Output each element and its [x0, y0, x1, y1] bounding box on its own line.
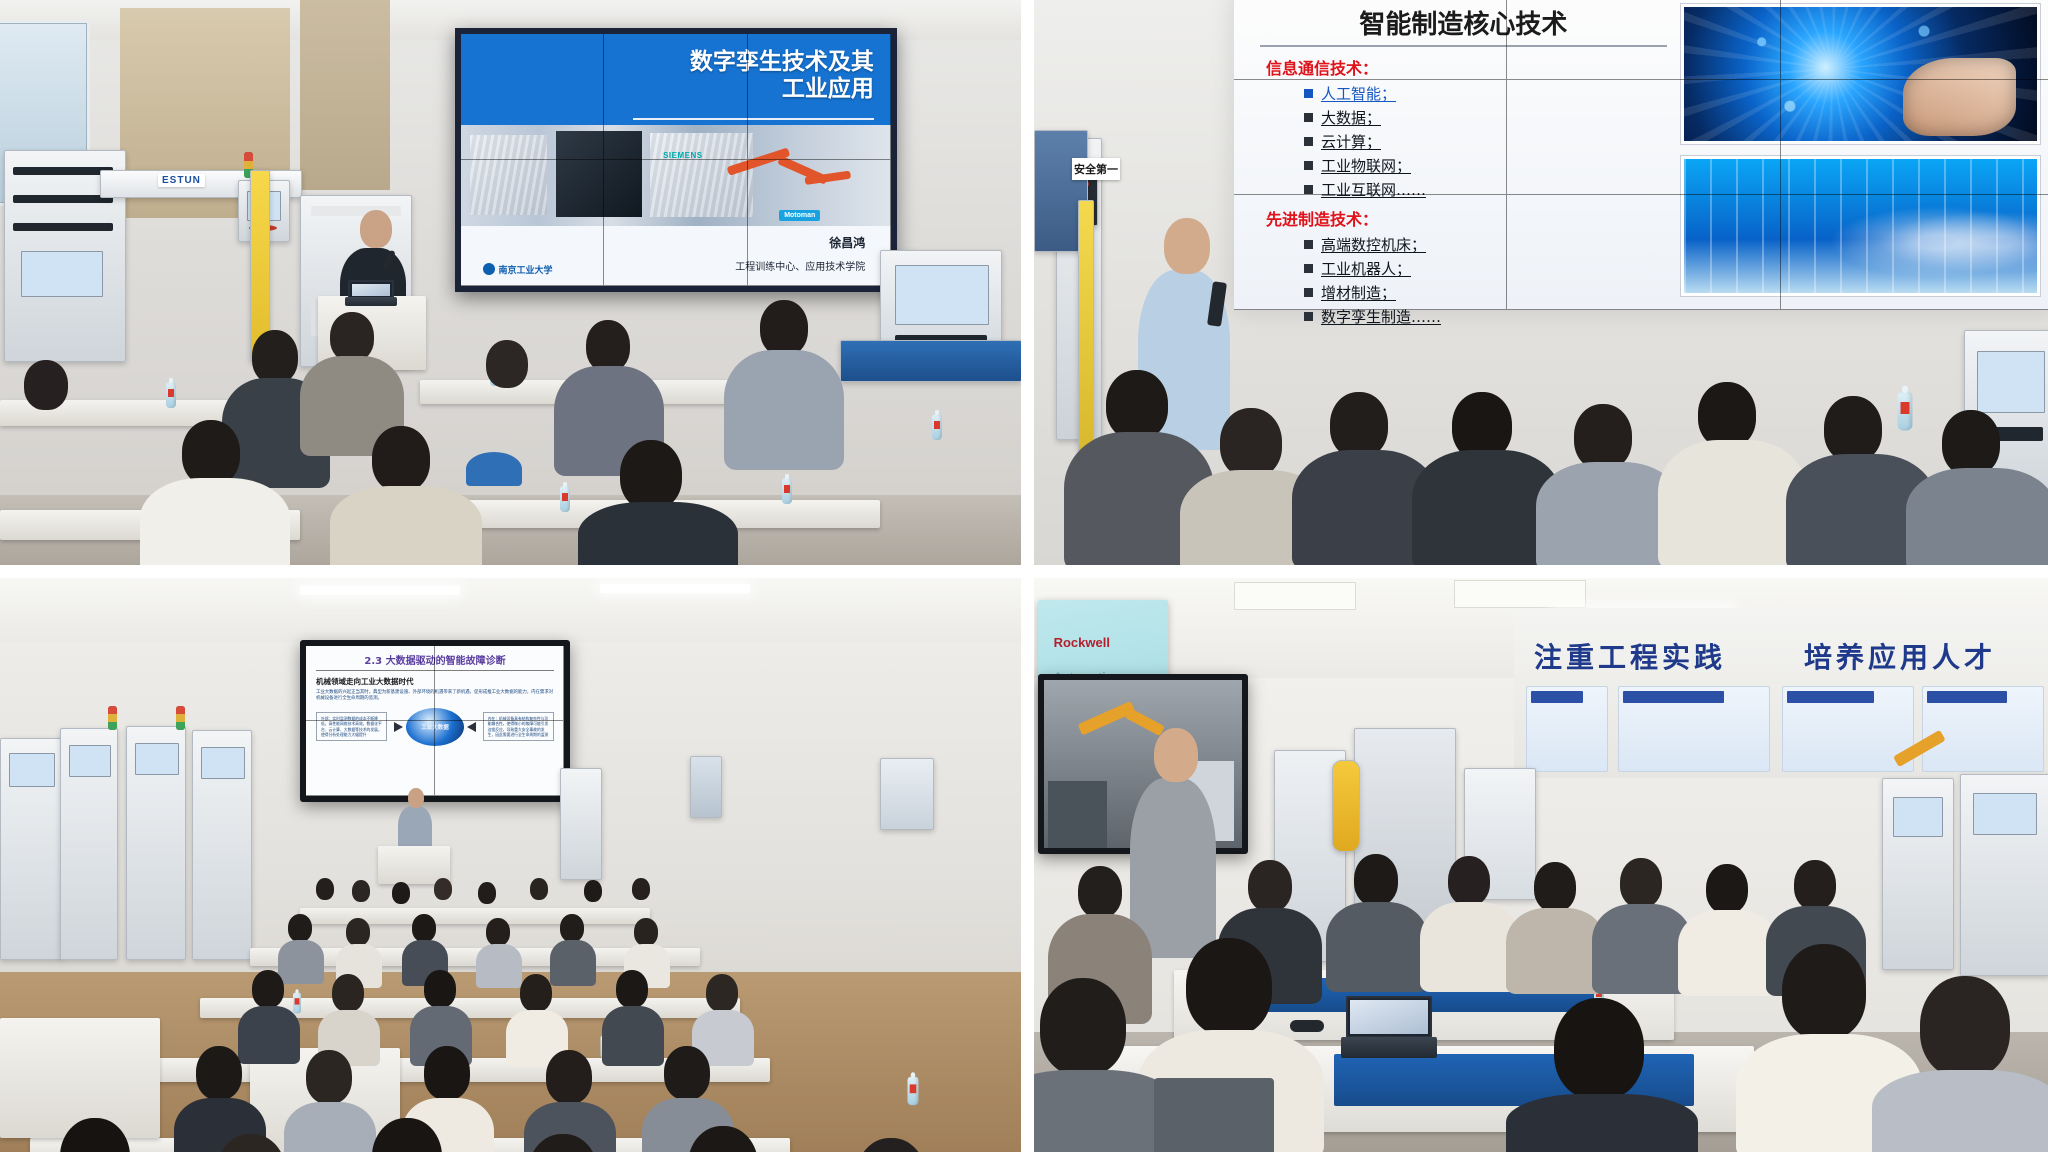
lab-machine — [126, 726, 186, 960]
lab-machine — [60, 728, 118, 960]
microphone — [1290, 1020, 1324, 1032]
presenter-head — [408, 788, 424, 808]
audience-head — [584, 880, 602, 902]
wall-equipment — [560, 768, 602, 880]
rockwell-brand-line1: Rockwell — [1054, 635, 1110, 650]
audience-head — [392, 882, 410, 904]
window-blinds — [300, 0, 390, 190]
attendee-head — [1448, 856, 1490, 906]
audience-body — [724, 350, 844, 470]
wall-banner-left: 注重工程实践 — [1534, 636, 1726, 676]
audience-body — [330, 486, 482, 565]
ceiling-panel — [1454, 580, 1586, 608]
audience-head — [486, 340, 528, 388]
wall-screen: 2.3 大数据驱动的智能故障诊断 机械领域走向工业大数据时代 工业大数据的兴起正… — [300, 640, 570, 802]
water-bottle — [932, 414, 942, 440]
audience-head — [306, 1050, 352, 1104]
attendee-head — [1534, 862, 1576, 912]
audience-head — [1698, 382, 1756, 448]
bullet-square-icon — [1304, 312, 1313, 321]
attendee-head — [1782, 944, 1866, 1040]
status-lamp-tower — [108, 706, 117, 730]
wall-poster — [880, 758, 934, 830]
audience-head — [760, 300, 808, 356]
attendee-head — [1620, 858, 1662, 908]
audience-head — [182, 420, 240, 486]
blue-cabinet — [840, 340, 1021, 382]
attendee-head — [1040, 978, 1126, 1076]
presenter-head — [1164, 218, 1210, 274]
audience-body — [602, 1006, 664, 1066]
audience-head — [586, 320, 630, 372]
audience-head — [434, 878, 452, 900]
wall-banner-right: 培养应用人才 — [1804, 636, 1996, 676]
robot-cell — [1882, 778, 1954, 970]
audience-head — [424, 970, 456, 1008]
audience-body — [278, 940, 324, 984]
chair — [1154, 1078, 1274, 1152]
attendee-body — [1420, 902, 1520, 992]
audience-head — [330, 312, 374, 362]
attendee-body — [1872, 1070, 2048, 1152]
photo-top-left: ESTUN SIEMENS Mo — [0, 0, 1021, 565]
video-wall: SIEMENS Motoman 数字孪生技术及其 工业应用 徐昌鸿 工程训练中心… — [455, 28, 897, 292]
water-bottle — [166, 382, 176, 408]
wall-poster — [1526, 686, 1608, 772]
attendee-head — [1920, 976, 2010, 1078]
safety-post — [1078, 200, 1094, 452]
water-bottle — [782, 478, 792, 504]
attendee-head — [1078, 866, 1122, 918]
laptop — [1346, 996, 1432, 1058]
audience-head — [616, 970, 648, 1008]
photo-collage: ESTUN SIEMENS Mo — [0, 0, 2048, 1152]
estun-brand-label: ESTUN — [158, 174, 205, 187]
audience-head — [1330, 392, 1388, 458]
audience-head — [372, 426, 430, 492]
audience-body — [284, 1102, 376, 1152]
audience-head — [1942, 410, 2000, 476]
audience-head — [1824, 396, 1882, 462]
ceiling-light — [300, 586, 460, 595]
attendee-head — [1706, 864, 1748, 914]
presenter-laptop — [348, 280, 394, 306]
audience-head — [24, 360, 68, 410]
audience-head — [424, 1046, 470, 1100]
ceiling — [0, 578, 1021, 642]
audience-head — [1220, 408, 1282, 478]
speaker-head — [1154, 728, 1198, 782]
lab-machine — [0, 738, 62, 960]
robot-cell — [1960, 774, 2048, 976]
yellow-fixture — [1332, 760, 1360, 852]
wall-poster — [1618, 686, 1770, 772]
stool — [466, 452, 522, 486]
audience-head — [316, 878, 334, 900]
ceiling-light — [600, 584, 750, 593]
audience-head — [664, 1046, 710, 1100]
audience-head — [632, 878, 650, 900]
audience-head — [196, 1046, 242, 1100]
attendee-head — [1354, 854, 1398, 906]
attendee-body — [1506, 1094, 1698, 1152]
audience-body — [238, 1006, 300, 1064]
photo-bottom-left: 2.3 大数据驱动的智能故障诊断 机械领域走向工业大数据时代 工业大数据的兴起正… — [0, 578, 1021, 1152]
audience-head — [520, 974, 552, 1012]
audience-head — [706, 974, 738, 1012]
ceiling-panel — [1234, 582, 1356, 610]
attendee-head — [1248, 860, 1292, 912]
audience-body — [578, 502, 738, 565]
audience-head — [288, 914, 312, 942]
wall-sign: 安全第一 — [1072, 158, 1120, 180]
lab-machine — [192, 730, 252, 960]
attendee-head — [1794, 860, 1836, 910]
audience-body — [1906, 468, 2048, 565]
audience-head — [1106, 370, 1168, 440]
audience-head — [252, 330, 298, 384]
audience-head — [634, 918, 658, 946]
audience-body — [476, 944, 522, 988]
audience-head — [332, 974, 364, 1012]
water-bottle — [293, 993, 301, 1014]
attendee-body — [1592, 904, 1692, 994]
photo-top-right: 智能制造核心技术 信息通信技术： 人工智能； 大数据； 云计算； — [1034, 0, 2048, 565]
audience-body — [140, 478, 290, 565]
attendee-body — [1326, 902, 1428, 992]
attendee-body — [1678, 910, 1778, 996]
audience-body — [550, 940, 596, 986]
wall-poster — [1922, 686, 2044, 772]
photo-bottom-right: 注重工程实践 培养应用人才 Rockwell Automation 项目 — [1034, 578, 2048, 1152]
audience-head — [412, 914, 436, 942]
audience-head — [486, 918, 510, 946]
audience-head — [352, 880, 370, 902]
audience-head — [560, 914, 584, 942]
attendee-head — [1186, 938, 1272, 1036]
water-bottle — [1898, 392, 1913, 431]
projection-surface: 智能制造核心技术 信息通信技术： 人工智能； 大数据； 云计算； — [1234, 0, 2048, 310]
attendee-head — [1554, 998, 1644, 1100]
status-lamp-tower — [176, 706, 185, 730]
audience-head — [620, 440, 682, 510]
water-bottle — [908, 1077, 919, 1106]
audience-head — [252, 970, 284, 1008]
attendee-body — [1506, 908, 1606, 994]
wall-poster — [690, 756, 722, 818]
audience-head — [478, 882, 496, 904]
presenter-head — [360, 210, 392, 248]
audience-head — [346, 918, 370, 946]
audience-head — [1574, 404, 1632, 470]
audience-head — [546, 1050, 592, 1104]
water-bottle — [560, 486, 570, 512]
audience-head — [530, 878, 548, 900]
